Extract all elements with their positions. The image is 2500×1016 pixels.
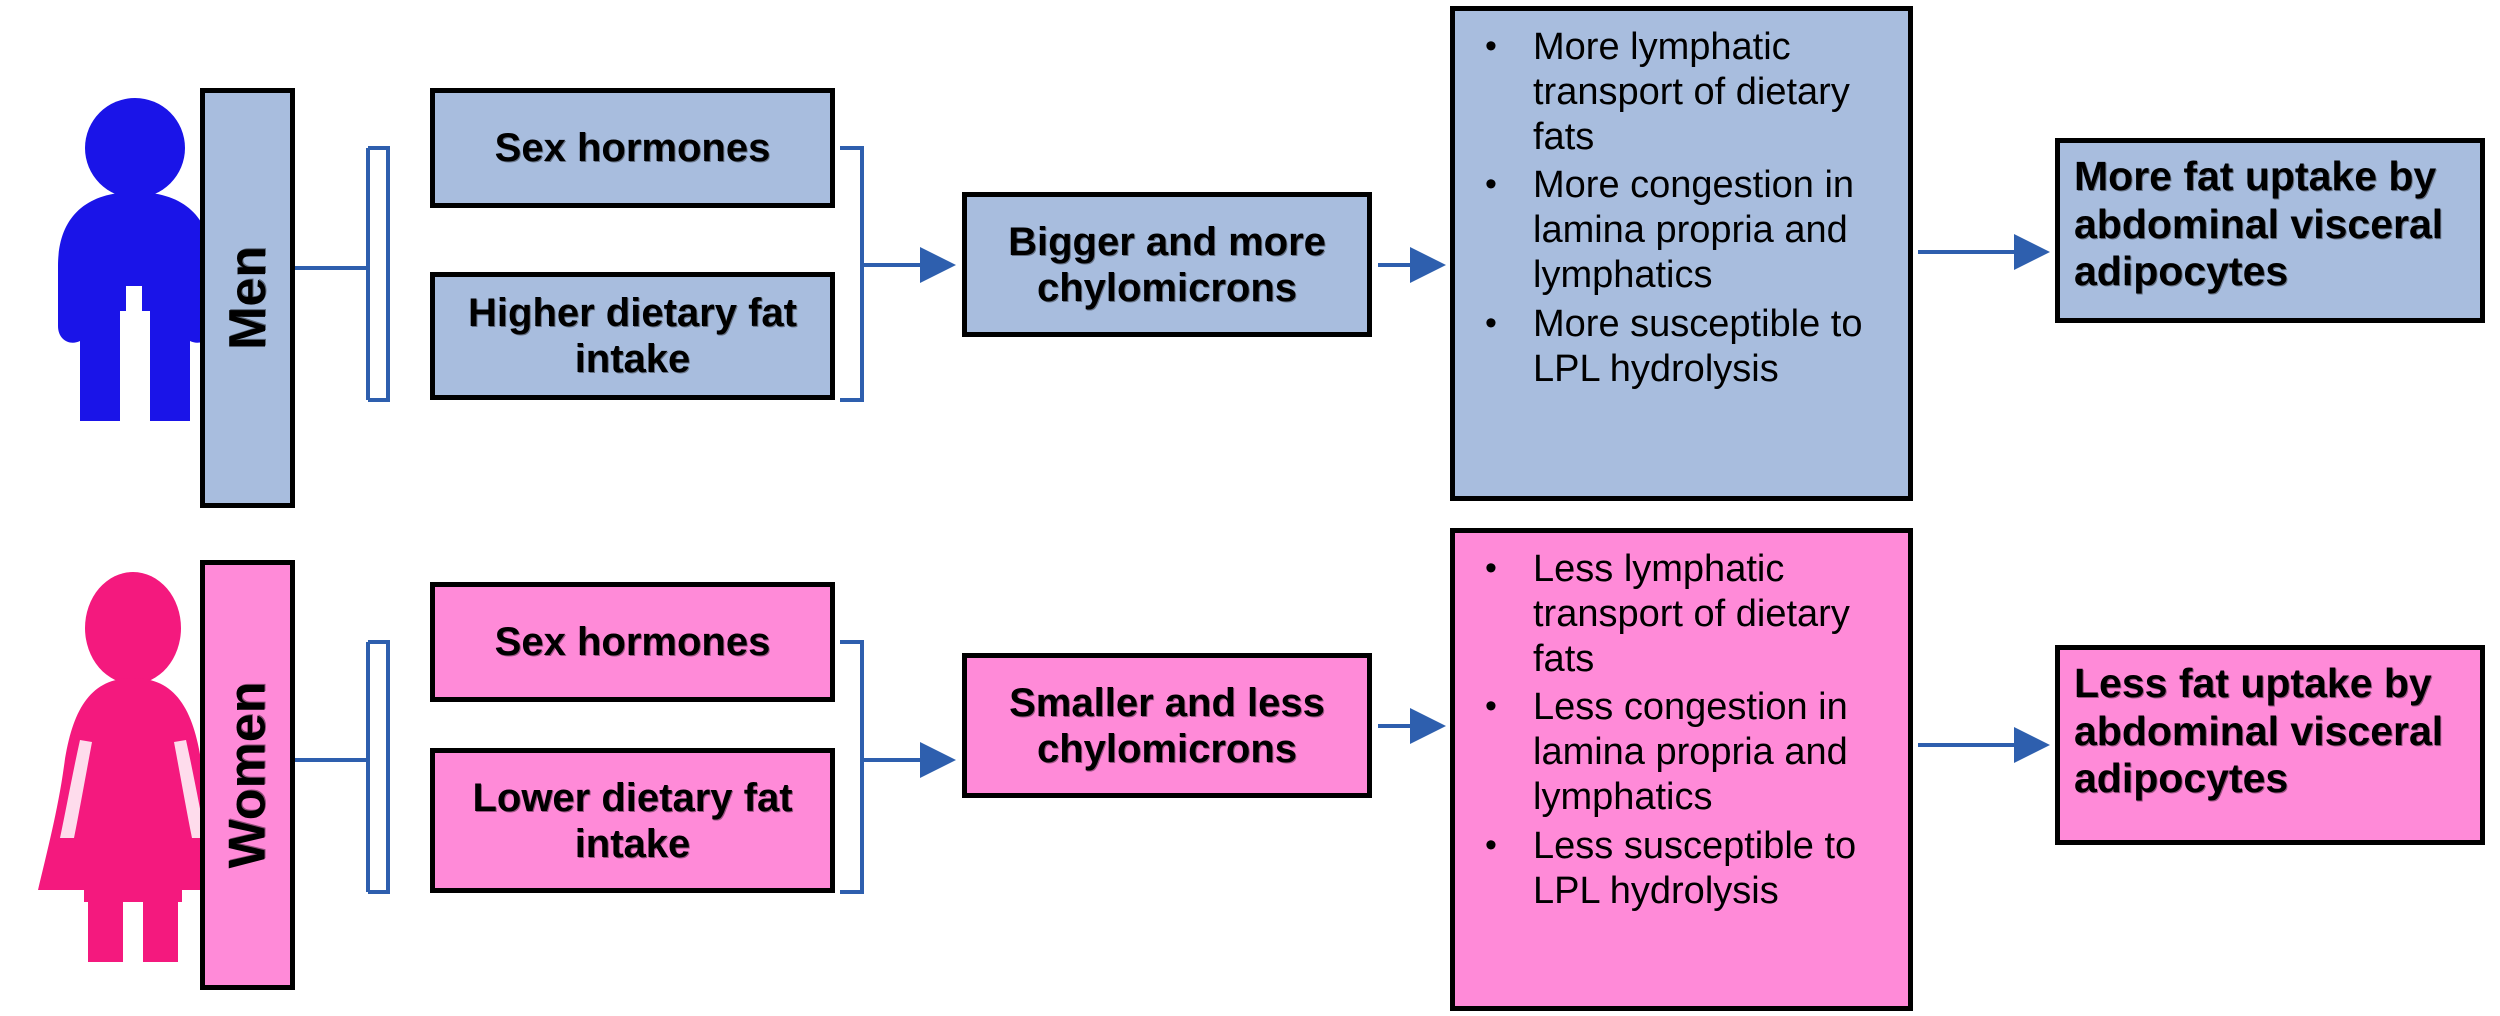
effects-item-men-1: More lymphatic transport of dietary fats: [1533, 25, 1890, 159]
row-label-men-text: Men: [218, 246, 278, 350]
effects-item-women-1: Less lymphatic transport of dietary fats: [1533, 547, 1890, 681]
outcome-box-men-text: More fat uptake by abdominal visceral ad…: [2074, 153, 2443, 294]
outcome-box-women-text: Less fat uptake by abdominal visceral ad…: [2074, 660, 2443, 801]
list-item: • Less lymphatic transport of dietary fa…: [1477, 547, 1890, 681]
bracket-women-left: [368, 642, 388, 892]
factor-box-men-dietary-fat-text: Higher dietary fat intake: [445, 290, 820, 382]
bracket-women-right: [840, 642, 862, 892]
effects-box-women[interactable]: • Less lymphatic transport of dietary fa…: [1450, 528, 1913, 1011]
chylomicron-box-women-text: Smaller and less chylomicrons: [981, 680, 1353, 772]
bullet-icon: •: [1477, 25, 1533, 69]
list-item: • More congestion in lamina propria and …: [1477, 163, 1890, 297]
factor-box-women-dietary-fat[interactable]: Lower dietary fat intake: [430, 748, 835, 893]
effects-item-men-2: More congestion in lamina propria and ly…: [1533, 163, 1890, 297]
bullet-icon: •: [1477, 547, 1533, 591]
list-item: • Less susceptible to LPL hydrolysis: [1477, 824, 1890, 914]
effects-item-women-3: Less susceptible to LPL hydrolysis: [1533, 824, 1890, 914]
list-item: • More susceptible to LPL hydrolysis: [1477, 302, 1890, 392]
effects-list-men: • More lymphatic transport of dietary fa…: [1477, 25, 1890, 392]
list-item: • More lymphatic transport of dietary fa…: [1477, 25, 1890, 159]
effects-box-men[interactable]: • More lymphatic transport of dietary fa…: [1450, 6, 1913, 501]
effects-item-men-3: More susceptible to LPL hydrolysis: [1533, 302, 1890, 392]
outcome-box-women[interactable]: Less fat uptake by abdominal visceral ad…: [2055, 645, 2485, 845]
factor-box-men-dietary-fat[interactable]: Higher dietary fat intake: [430, 272, 835, 400]
factor-box-men-sex-hormones[interactable]: Sex hormones: [430, 88, 835, 208]
row-label-men: Men: [200, 88, 295, 508]
effects-list-women: • Less lymphatic transport of dietary fa…: [1477, 547, 1890, 914]
bullet-icon: •: [1477, 824, 1533, 868]
effects-item-women-2: Less congestion in lamina propria and ly…: [1533, 685, 1890, 819]
bullet-icon: •: [1477, 163, 1533, 207]
factor-box-men-sex-hormones-text: Sex hormones: [495, 125, 771, 171]
row-label-women: Women: [200, 560, 295, 990]
chylomicron-box-women[interactable]: Smaller and less chylomicrons: [962, 653, 1372, 798]
diagram-row-men: Men Sex hormones Higher dietary fat inta…: [0, 0, 2500, 508]
row-label-women-text: Women: [218, 682, 278, 869]
list-item: • Less congestion in lamina propria and …: [1477, 685, 1890, 819]
chylomicron-box-men[interactable]: Bigger and more chylomicrons: [962, 192, 1372, 337]
chylomicron-box-men-text: Bigger and more chylomicrons: [981, 219, 1353, 311]
bullet-icon: •: [1477, 685, 1533, 729]
bullet-icon: •: [1477, 302, 1533, 346]
outcome-box-men[interactable]: More fat uptake by abdominal visceral ad…: [2055, 138, 2485, 323]
factor-box-women-sex-hormones[interactable]: Sex hormones: [430, 582, 835, 702]
factor-box-women-dietary-fat-text: Lower dietary fat intake: [445, 775, 820, 867]
factor-box-women-sex-hormones-text: Sex hormones: [495, 619, 771, 665]
flow-diagram: Men Sex hormones Higher dietary fat inta…: [0, 0, 2500, 1016]
